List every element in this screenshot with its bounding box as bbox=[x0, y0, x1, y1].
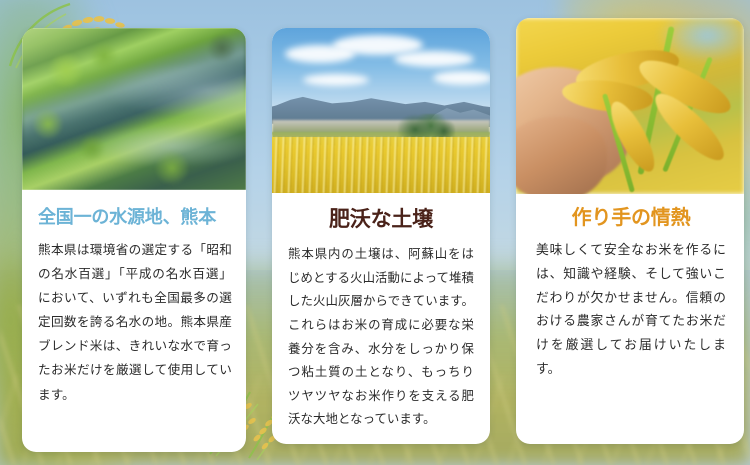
card-text-soil: 熊本県内の土壌は、阿蘇山をはじめとする火山活動によって堆積した火山灰層からできて… bbox=[288, 243, 474, 432]
card-text-water: 熊本県は環境省の選定する「昭和の名水百選」「平成の名水百選」において、いずれも全… bbox=[38, 238, 232, 407]
card-image-hands-rice bbox=[516, 18, 744, 194]
card-image-water-source bbox=[22, 28, 246, 190]
feature-card-soil: 肥沃な土壌 熊本県内の土壌は、阿蘇山をはじめとする火山活動によって堆積した火山灰… bbox=[272, 28, 490, 444]
card-title-passion: 作り手の情熱 bbox=[536, 206, 726, 231]
card-image-aso-paddy bbox=[272, 28, 490, 193]
promo-panel: 全国一の水源地、熊本 熊本県は環境省の選定する「昭和の名水百選」「平成の名水百選… bbox=[0, 0, 750, 465]
feature-card-passion: 作り手の情熱 美味しくて安全なお米を作るには、知識や経験、そして強いこだわりが欠… bbox=[516, 18, 744, 444]
card-text-passion: 美味しくて安全なお米を作るには、知識や経験、そして強いこだわりが欠かせません。信… bbox=[536, 238, 726, 381]
card-body: 作り手の情熱 美味しくて安全なお米を作るには、知識や経験、そして強いこだわりが欠… bbox=[516, 194, 744, 444]
card-title-water: 全国一の水源地、熊本 bbox=[38, 206, 232, 229]
card-body: 肥沃な土壌 熊本県内の土壌は、阿蘇山をはじめとする火山活動によって堆積した火山灰… bbox=[272, 193, 490, 444]
card-title-soil: 肥沃な土壌 bbox=[288, 207, 474, 233]
feature-card-water: 全国一の水源地、熊本 熊本県は環境省の選定する「昭和の名水百選」「平成の名水百選… bbox=[22, 28, 246, 452]
card-body: 全国一の水源地、熊本 熊本県は環境省の選定する「昭和の名水百選」「平成の名水百選… bbox=[22, 190, 246, 452]
